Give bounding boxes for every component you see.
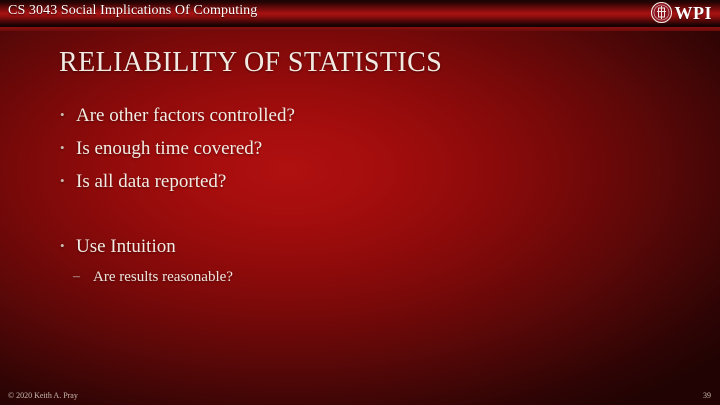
wpi-logo: WPI bbox=[651, 2, 713, 23]
sub-bullet-item: – Are results reasonable? bbox=[57, 270, 677, 285]
bullet-text: Use Intuition bbox=[76, 236, 176, 257]
wpi-wordmark: WPI bbox=[675, 4, 713, 22]
bullet-marker: • bbox=[60, 172, 65, 190]
bullet-item: • Are other factors controlled? bbox=[57, 106, 677, 125]
bullet-text: Is all data reported? bbox=[76, 171, 226, 192]
bullet-marker: • bbox=[60, 237, 65, 255]
footer-slide-number: 39 bbox=[703, 391, 711, 400]
sub-bullet-marker: – bbox=[73, 270, 80, 285]
presentation-slide: CS 3043 Social Implications Of Computing… bbox=[0, 0, 720, 405]
sub-bullet-text: Are results reasonable? bbox=[93, 269, 233, 285]
bullet-item: • Use Intuition bbox=[57, 237, 677, 256]
wpi-seal-icon bbox=[651, 2, 672, 23]
slide-title: RELIABILITY OF STATISTICS bbox=[59, 47, 442, 79]
course-title: CS 3043 Social Implications Of Computing bbox=[8, 3, 257, 19]
bullet-text: Is enough time covered? bbox=[76, 138, 262, 159]
bullet-marker: • bbox=[60, 139, 65, 157]
slide-header-bar: CS 3043 Social Implications Of Computing bbox=[0, 0, 720, 27]
bullet-item: • Is all data reported? bbox=[57, 172, 677, 191]
bullet-item: • Is enough time covered? bbox=[57, 139, 677, 158]
slide-body: • Are other factors controlled? • Is eno… bbox=[57, 106, 677, 285]
footer-copyright: © 2020 Keith A. Pray bbox=[8, 391, 78, 400]
bullet-text: Are other factors controlled? bbox=[76, 105, 295, 126]
bullet-marker: • bbox=[60, 106, 65, 124]
